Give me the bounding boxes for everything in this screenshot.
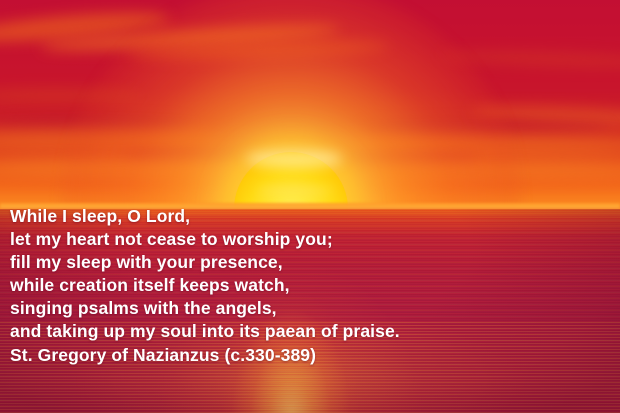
quote-block: While I sleep, O Lord, let my heart not …: [10, 205, 480, 367]
sunset-quote-image: While I sleep, O Lord, let my heart not …: [0, 0, 620, 413]
quote-line: let my heart not cease to worship you;: [10, 228, 480, 251]
sun-cloud-veil: [246, 150, 342, 168]
quote-line: fill my sleep with your presence,: [10, 251, 480, 274]
quote-line: and taking up my soul into its paean of …: [10, 320, 480, 343]
quote-line: singing psalms with the angels,: [10, 297, 480, 320]
quote-attribution: St. Gregory of Nazianzus (c.330-389): [10, 344, 480, 367]
quote-line: While I sleep, O Lord,: [10, 205, 480, 228]
quote-line: while creation itself keeps watch,: [10, 274, 480, 297]
sun-cloud-veil: [256, 186, 334, 195]
